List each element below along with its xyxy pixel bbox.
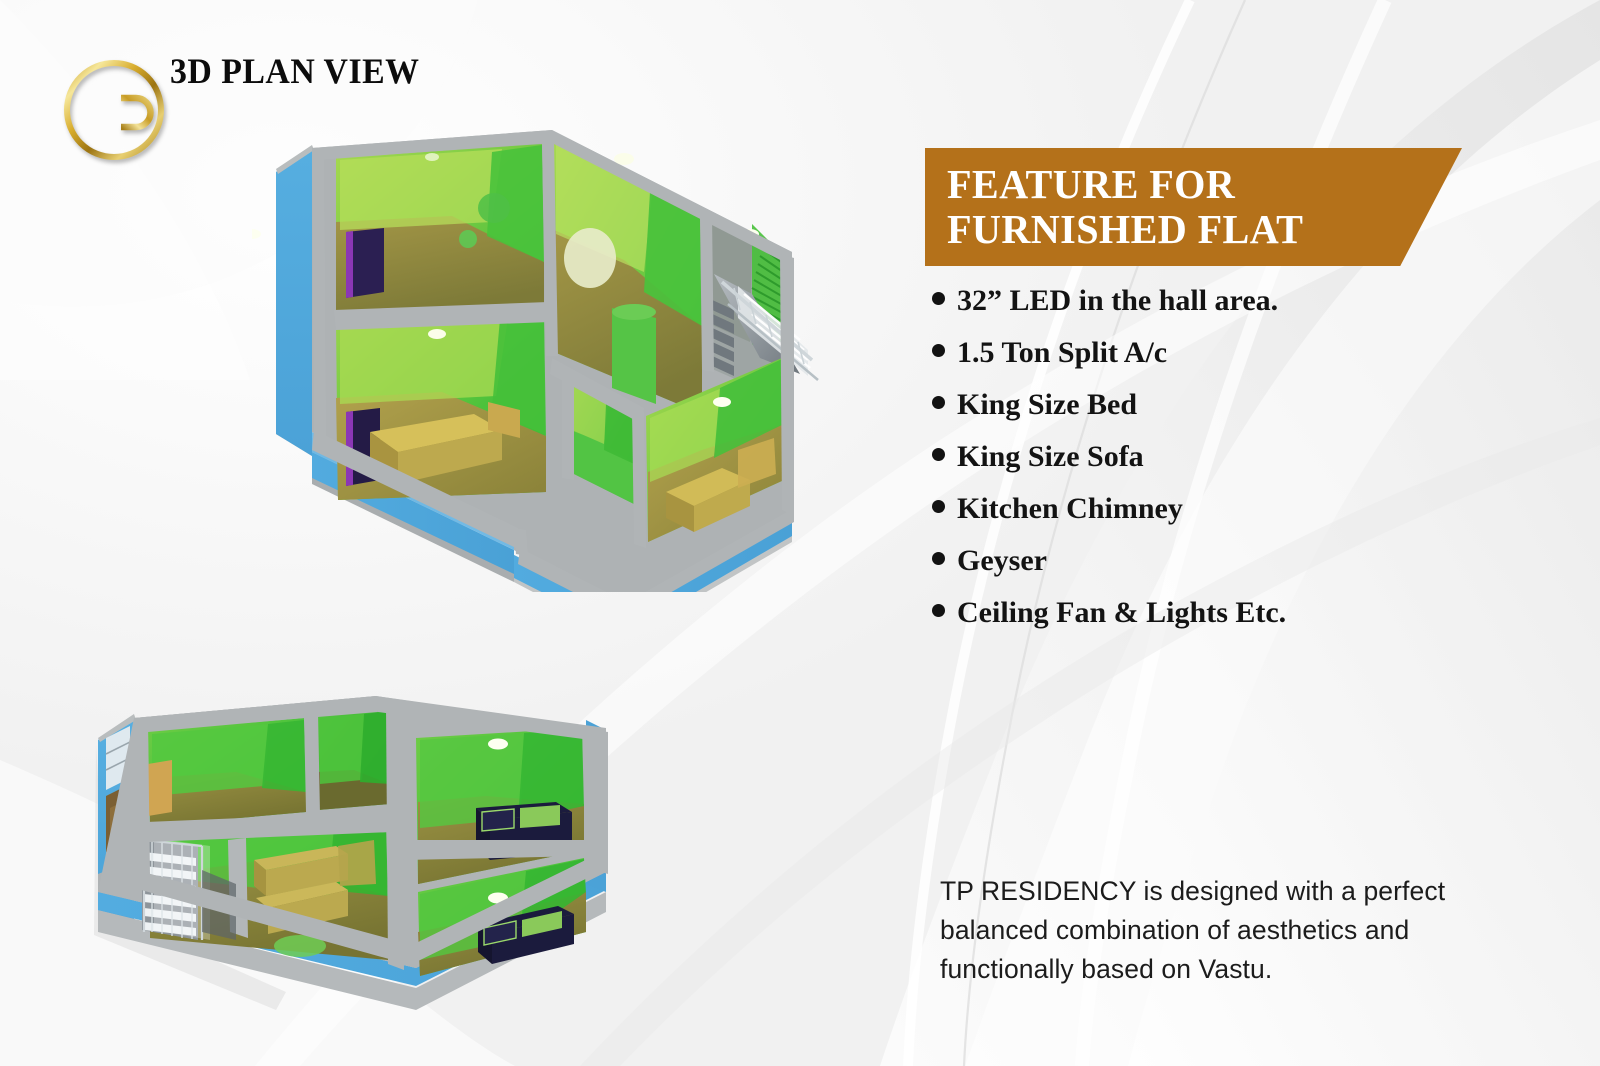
feature-item-label: 1.5 Ton Split A/c (957, 336, 1167, 370)
feature-item: 32” LED in the hall area. (932, 284, 1492, 336)
feature-banner-line-1: FEATURE FOR (947, 162, 1303, 207)
bullet-icon (932, 344, 945, 357)
bullet-icon (932, 292, 945, 305)
lower-floor-3d-plan (86, 540, 626, 1010)
tp-residency-logo (58, 52, 170, 168)
bullet-icon (932, 448, 945, 461)
feature-item-label: Kitchen Chimney (957, 492, 1183, 526)
feature-item-label: King Size Bed (957, 388, 1137, 422)
description-paragraph: TP RESIDENCY is designed with a perfect … (940, 872, 1540, 989)
bullet-icon (932, 604, 945, 617)
poster-canvas: 3D PLAN VIEW (0, 0, 1600, 1066)
feature-item-label: Ceiling Fan & Lights Etc. (957, 596, 1286, 630)
bullet-icon (932, 552, 945, 565)
feature-item: King Size Sofa (932, 440, 1492, 492)
feature-item-label: 32” LED in the hall area. (957, 284, 1278, 318)
feature-item: King Size Bed (932, 388, 1492, 440)
description-line-2: balanced combination of aesthetics and (940, 911, 1540, 950)
feature-item: 1.5 Ton Split A/c (932, 336, 1492, 388)
bullet-icon (932, 396, 945, 409)
feature-banner-line-2: FURNISHED FLAT (947, 207, 1303, 252)
feature-item: Ceiling Fan & Lights Etc. (932, 596, 1492, 648)
upper-floor-3d-plan (252, 112, 852, 592)
feature-list: 32” LED in the hall area. 1.5 Ton Split … (932, 284, 1492, 648)
feature-item-label: King Size Sofa (957, 440, 1144, 474)
feature-item-label: Geyser (957, 544, 1047, 578)
description-line-3: functionally based on Vastu. (940, 950, 1540, 989)
bullet-icon (932, 500, 945, 513)
feature-banner: FEATURE FOR FURNISHED FLAT (925, 148, 1462, 266)
page-title: 3D PLAN VIEW (170, 50, 419, 92)
description-line-1: TP RESIDENCY is designed with a perfect (940, 872, 1540, 911)
feature-item: Geyser (932, 544, 1492, 596)
feature-item: Kitchen Chimney (932, 492, 1492, 544)
